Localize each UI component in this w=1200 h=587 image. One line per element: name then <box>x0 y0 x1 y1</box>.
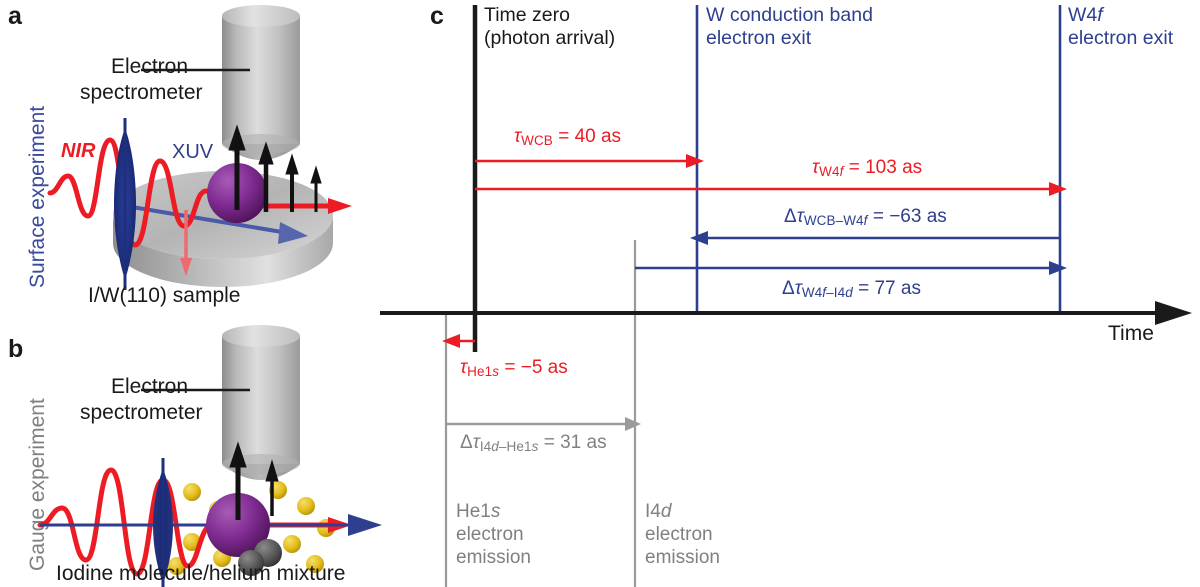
time-axis <box>380 301 1192 325</box>
timeline-graphics <box>0 0 1200 587</box>
time-axis-label: Time <box>1108 322 1154 346</box>
marker-label-w4f: W4f electron exit <box>1068 4 1173 50</box>
arrow-dtau-w4f-i4d <box>635 261 1067 275</box>
figure-root: a Surface experiment <box>0 0 1200 587</box>
time-axis-arrowhead <box>1155 301 1192 325</box>
annotation-dtau-wcb-w4f: ΔΔττWCB–W4f = −63 as <box>784 206 947 228</box>
marker-label-i4d: I4d electron emission <box>645 500 720 569</box>
marker-label-he1s: He1s electron emission <box>456 500 531 569</box>
annotation-dtau-i4d-he1s: ΔτI4d–He1s = 31 as <box>460 432 607 454</box>
annotation-tau-wcb: τWCB = 40 as <box>514 126 621 148</box>
arrow-dtau-wcb-w4f <box>690 231 1060 245</box>
annotation-tau-he1s: τHe1s = −5 as <box>460 357 568 379</box>
annotation-dtau-w4f-i4d: ΔτW4f–I4d = 77 as <box>782 278 921 300</box>
arrow-tau-wcb <box>475 154 704 168</box>
arrow-dtau-i4d-he1s <box>446 417 641 431</box>
marker-label-time-zero: Time zero (photon arrival) <box>484 4 615 50</box>
marker-label-wcb: W conduction band electron exit <box>706 4 873 50</box>
annotation-tau-w4f: τW4f = 103 as <box>812 157 922 179</box>
arrow-tau-w4f <box>475 182 1067 196</box>
